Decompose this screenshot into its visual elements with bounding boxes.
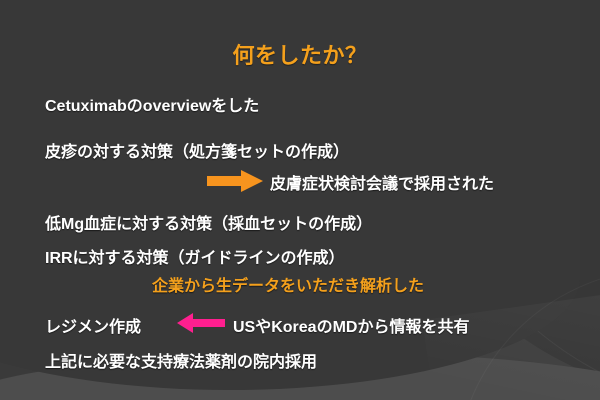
bullet-line-in-hospital: 上記に必要な支持療法薬剤の院内採用 xyxy=(45,348,317,372)
bullet-line-overview: Cetuximabのoverviewをした xyxy=(45,92,259,116)
bullet-line-rash-measures: 皮疹の対する対策（処方箋セットの作成） xyxy=(45,138,349,162)
bullet-line-hypomagnesemia: 低Mg血症に対する対策（採血セットの作成） xyxy=(45,210,372,234)
slide-content: 何をしたか？ Cetuximabのoverviewをした 皮疹の対する対策（処方… xyxy=(0,0,600,400)
bullet-line-us-korea: USやKoreaのMDから情報を共有 xyxy=(233,313,469,337)
bullet-line-irr-measures: IRRに対する対策（ガイドラインの作成） xyxy=(45,244,345,268)
slide-title: 何をしたか？ xyxy=(0,38,600,70)
arrow-left-icon xyxy=(177,313,225,338)
bullet-line-raw-data: 企業から生データをいただき解析した xyxy=(152,272,424,296)
bullet-line-adopted-meeting: 皮膚症状検討会議で採用された xyxy=(270,170,494,194)
bullet-line-regimen: レジメン作成 xyxy=(45,313,141,337)
presentation-slide: 何をしたか？ Cetuximabのoverviewをした 皮疹の対する対策（処方… xyxy=(0,0,600,400)
arrow-right-icon xyxy=(207,170,263,197)
